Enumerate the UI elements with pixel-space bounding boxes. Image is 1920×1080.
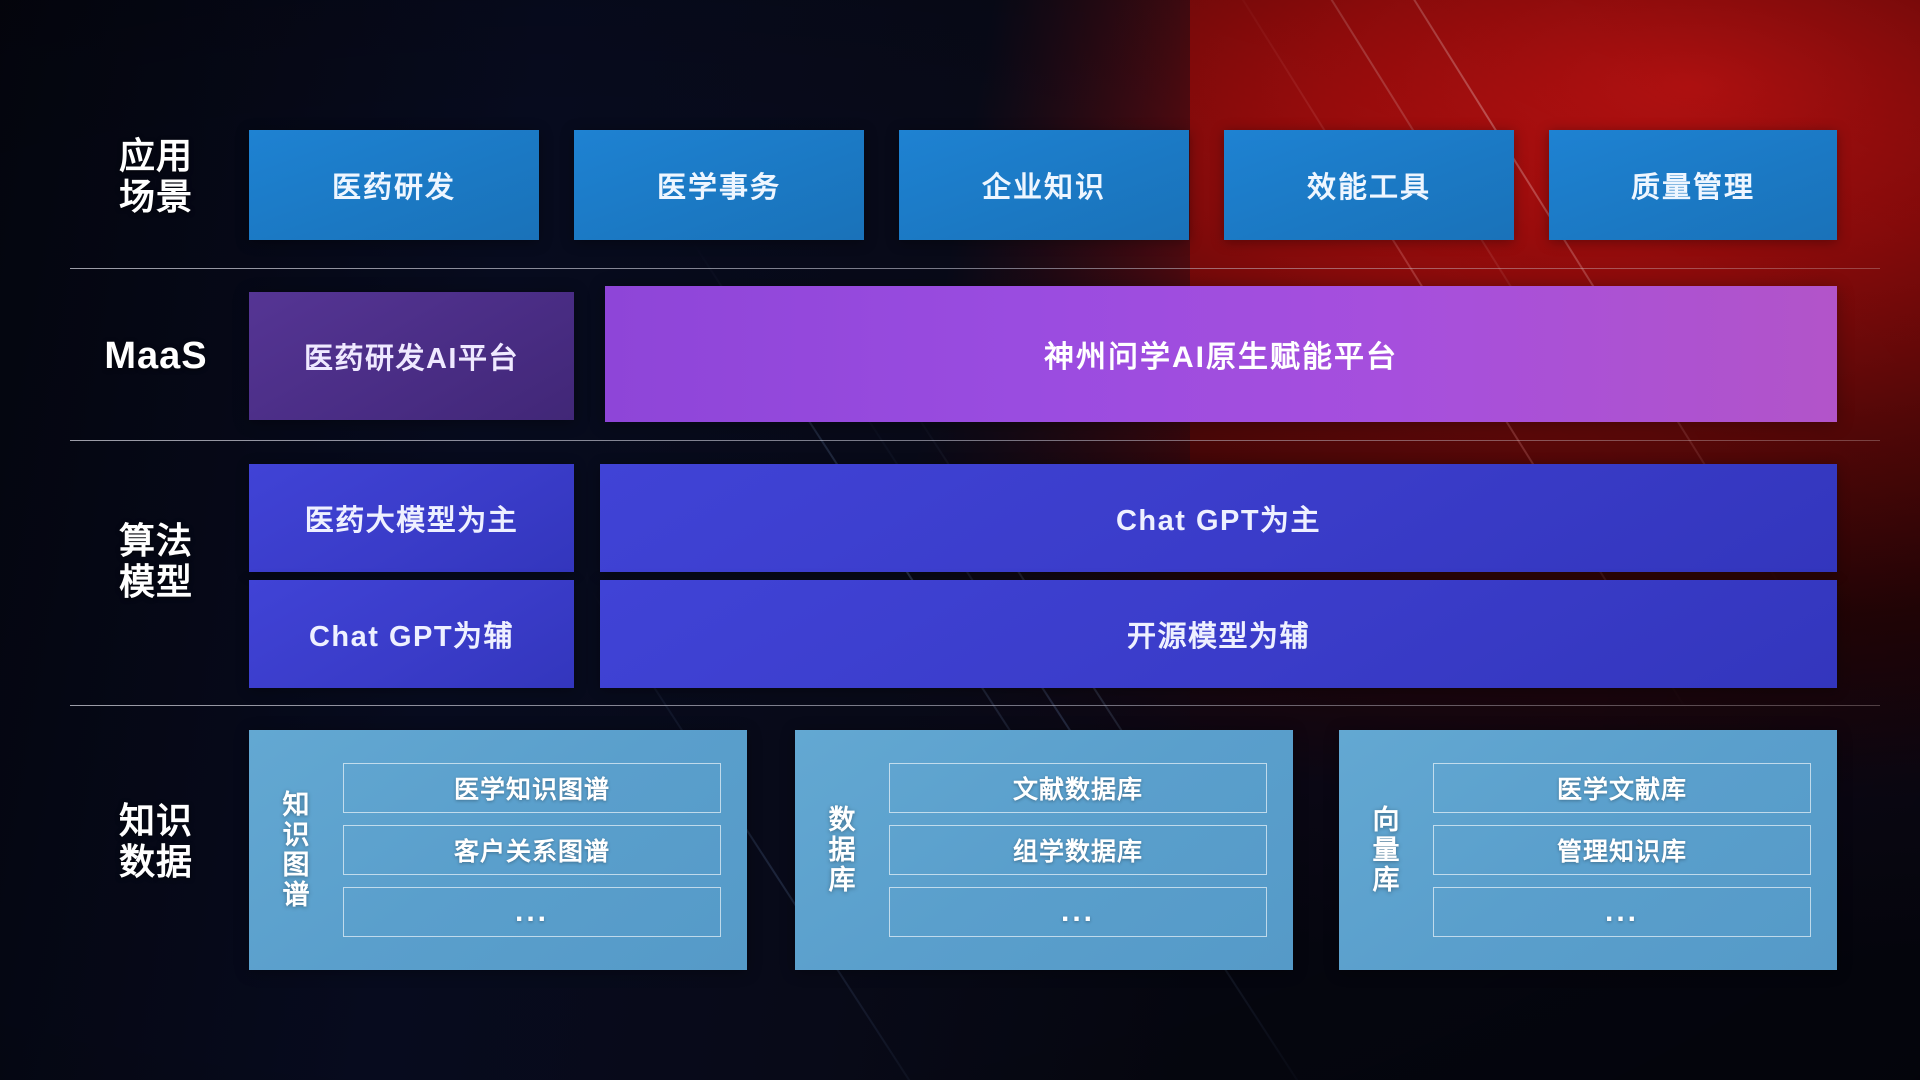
algorithm-box-right-2[interactable]: 开源模型为辅 bbox=[600, 580, 1837, 688]
title-char: 向 bbox=[1373, 805, 1400, 835]
title-char: 知 bbox=[283, 790, 310, 820]
title-char: 库 bbox=[829, 865, 856, 895]
divider-3 bbox=[70, 705, 1880, 706]
scenario-box-2[interactable]: 医学事务 bbox=[574, 130, 864, 240]
title-char: 识 bbox=[283, 820, 310, 850]
row-label-maas: MaaS bbox=[70, 335, 242, 378]
row-label-algorithm-line1: 算法 bbox=[70, 520, 242, 561]
row-label-maas-text: MaaS bbox=[70, 335, 242, 378]
knowledge-group-title-vertical: 向 量 库 bbox=[1339, 805, 1425, 896]
knowledge-item-list: 文献数据库 组学数据库 ... bbox=[881, 763, 1293, 937]
knowledge-item-more[interactable]: ... bbox=[889, 887, 1267, 937]
knowledge-item[interactable]: 文献数据库 bbox=[889, 763, 1267, 813]
knowledge-group-title-vertical: 数 据 库 bbox=[795, 805, 881, 896]
knowledge-item[interactable]: 组学数据库 bbox=[889, 825, 1267, 875]
scenario-box-5[interactable]: 质量管理 bbox=[1549, 130, 1837, 240]
knowledge-group-vector-store: 向 量 库 医学文献库 管理知识库 ... bbox=[1339, 730, 1837, 970]
scenario-box-1[interactable]: 医药研发 bbox=[249, 130, 539, 240]
knowledge-group-title-vertical: 知 识 图 谱 bbox=[249, 790, 335, 911]
knowledge-group-knowledge-graph: 知 识 图 谱 医学知识图谱 客户关系图谱 ... bbox=[249, 730, 747, 970]
knowledge-item[interactable]: 医学知识图谱 bbox=[343, 763, 721, 813]
row-label-algorithm: 算法 模型 bbox=[70, 520, 242, 602]
knowledge-item-list: 医学知识图谱 客户关系图谱 ... bbox=[335, 763, 747, 937]
knowledge-group-database: 数 据 库 文献数据库 组学数据库 ... bbox=[795, 730, 1293, 970]
title-char: 图 bbox=[283, 850, 310, 880]
algorithm-box-left-2[interactable]: Chat GPT为辅 bbox=[249, 580, 574, 688]
knowledge-item[interactable]: 医学文献库 bbox=[1433, 763, 1811, 813]
title-char: 库 bbox=[1373, 865, 1400, 895]
architecture-diagram: 应用 场景 医药研发 医学事务 企业知识 效能工具 质量管理 MaaS 医药研发… bbox=[0, 0, 1920, 1080]
title-char: 数 bbox=[829, 805, 856, 835]
divider-2 bbox=[70, 440, 1880, 441]
row-label-knowledge-line1: 知识 bbox=[70, 800, 242, 841]
knowledge-item-more[interactable]: ... bbox=[343, 887, 721, 937]
row-label-knowledge: 知识 数据 bbox=[70, 800, 242, 882]
scenario-box-4[interactable]: 效能工具 bbox=[1224, 130, 1514, 240]
knowledge-item-list: 医学文献库 管理知识库 ... bbox=[1425, 763, 1837, 937]
algorithm-box-left-1[interactable]: 医药大模型为主 bbox=[249, 464, 574, 572]
knowledge-item-more[interactable]: ... bbox=[1433, 887, 1811, 937]
title-char: 量 bbox=[1373, 835, 1400, 865]
knowledge-item[interactable]: 客户关系图谱 bbox=[343, 825, 721, 875]
row-label-scenario-line1: 应用 bbox=[70, 135, 242, 176]
maas-platform-box-right[interactable]: 神州问学AI原生赋能平台 bbox=[605, 286, 1837, 422]
title-char: 谱 bbox=[283, 880, 310, 910]
row-label-knowledge-line2: 数据 bbox=[70, 841, 242, 882]
divider-1 bbox=[70, 268, 1880, 269]
row-label-scenario: 应用 场景 bbox=[70, 135, 242, 217]
maas-platform-box-left[interactable]: 医药研发AI平台 bbox=[249, 292, 574, 420]
knowledge-item[interactable]: 管理知识库 bbox=[1433, 825, 1811, 875]
title-char: 据 bbox=[829, 835, 856, 865]
row-label-scenario-line2: 场景 bbox=[70, 176, 242, 217]
scenario-box-3[interactable]: 企业知识 bbox=[899, 130, 1189, 240]
algorithm-box-right-1[interactable]: Chat GPT为主 bbox=[600, 464, 1837, 572]
row-label-algorithm-line2: 模型 bbox=[70, 561, 242, 602]
